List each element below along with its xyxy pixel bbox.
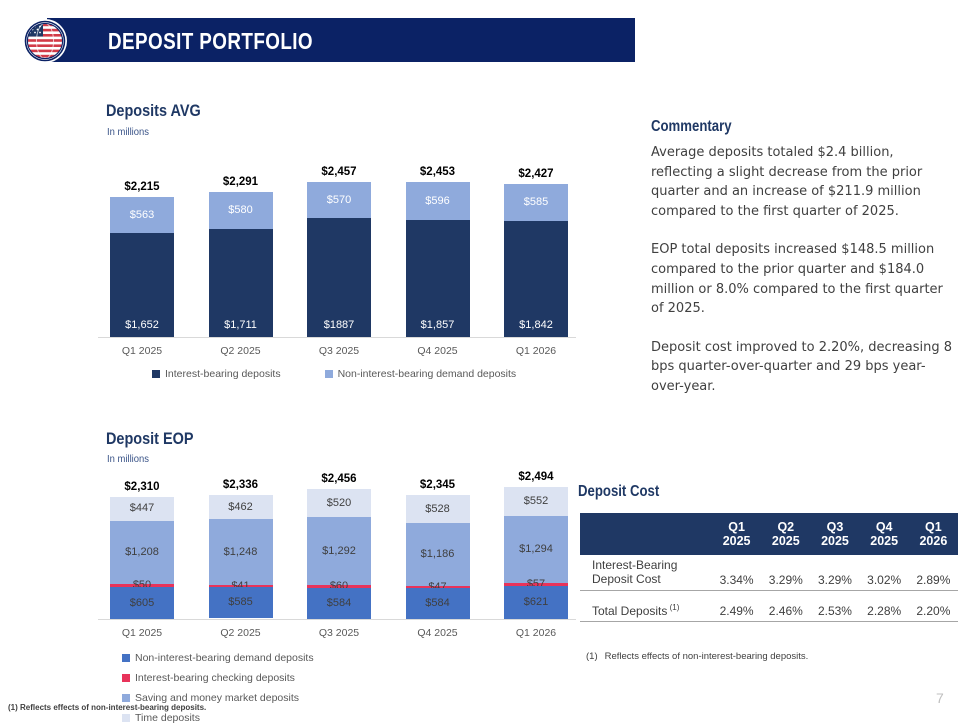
legend-swatch — [122, 714, 130, 722]
bar-segment: $570 — [307, 182, 371, 218]
commentary-paragraph: Average deposits totaled $2.4 billion, r… — [651, 143, 953, 221]
table-row: Total Deposits (1)2.49%2.46%2.53%2.28%2.… — [580, 600, 958, 622]
row-label-line2: Deposit Cost — [592, 572, 710, 586]
bar-segment-label: $1,652 — [125, 320, 159, 331]
column-header-quarter: Q1 — [714, 520, 759, 534]
bar-segment: $584 — [307, 588, 371, 619]
chart-subtitle-deposit-eop: In millions — [107, 453, 149, 465]
deposit-cost-title: Deposit Cost — [578, 483, 659, 501]
footnote-text: Reflects effects of non-interest-bearing… — [605, 651, 809, 662]
bar-segment: $585 — [504, 184, 568, 221]
bar-segment-label: $605 — [130, 598, 154, 609]
table-column-header: Q42025 — [860, 513, 909, 555]
bar-total-label: $2,453 — [406, 166, 470, 178]
bar-segment-label: $1,294 — [519, 544, 553, 555]
deposit-cost-footnote: (1)Reflects effects of non-interest-bear… — [586, 651, 808, 662]
bar-group: $580$1,711$2,291Q2 2025 — [209, 160, 273, 337]
legend-label: Non-interest-bearing demand deposits — [338, 368, 517, 380]
bar-segment: $585 — [209, 587, 273, 618]
stacked-bar: $563$1,652 — [110, 197, 174, 337]
table-cell-value: 2.49% — [712, 600, 761, 622]
table-cell-value: 2.53% — [810, 600, 859, 622]
bar-segment: $1,857 — [406, 220, 470, 337]
category-label: Q3 2025 — [307, 345, 371, 357]
commentary-title: Commentary — [651, 118, 732, 136]
column-header-year: 2026 — [911, 534, 956, 548]
chart-title-deposits-avg: Deposits AVG — [106, 101, 201, 121]
table-cell-value: 2.46% — [761, 600, 810, 622]
bar-segment-label: $585 — [524, 197, 548, 208]
legend-item: Interest-bearing checking deposits — [122, 672, 322, 684]
row-footnote-mark: (1) — [667, 603, 679, 612]
footnote-mark: (1) — [586, 651, 598, 662]
table-cell-value: 3.34% — [712, 555, 761, 590]
bar-group: $462$1,248$41$585$2,336Q2 2025 — [209, 473, 273, 619]
bar-segment: $580 — [209, 192, 273, 229]
column-header-year: 2025 — [763, 534, 808, 548]
category-label: Q1 2026 — [504, 345, 568, 357]
bar-segment: $1,842 — [504, 221, 568, 337]
bar-segment: $1,652 — [110, 233, 174, 337]
bar-segment: $520 — [307, 489, 371, 517]
stacked-bar: $552$1,294$57$621 — [504, 487, 568, 619]
bar-total-label: $2,456 — [307, 473, 371, 485]
bar-segment-label: $1887 — [324, 320, 355, 331]
column-header-quarter: Q1 — [911, 520, 956, 534]
bar-segment: $1887 — [307, 218, 371, 337]
bar-segment: $552 — [504, 487, 568, 516]
bar-segment-label: $1,292 — [322, 546, 356, 557]
table-cell-value: 3.29% — [761, 555, 810, 590]
bar-segment-label: $1,842 — [519, 320, 553, 331]
bar-total-label: $2,457 — [307, 166, 371, 178]
legend-swatch — [122, 654, 130, 662]
chart-deposit-eop: $447$1,208$50$605$2,310Q1 2025$462$1,248… — [104, 473, 570, 619]
bar-segment: $621 — [504, 586, 568, 619]
bar-group: $528$1,186$47$584$2,345Q4 2025 — [406, 473, 470, 619]
commentary-body: Average deposits totaled $2.4 billion, r… — [651, 143, 953, 416]
commentary-paragraph: Deposit cost improved to 2.20%, decreasi… — [651, 338, 953, 397]
bar-segment: $1,248 — [209, 519, 273, 585]
chart-legend-eop: Non-interest-bearing demand depositsInte… — [122, 652, 542, 724]
table-column-header: Q12025 — [712, 513, 761, 555]
page-title: DEPOSIT PORTFOLIO — [108, 28, 313, 55]
column-header-year: 2025 — [714, 534, 759, 548]
bar-segment: $563 — [110, 197, 174, 233]
bar-segment: $1,292 — [307, 517, 371, 585]
legend-label: Interest-bearing checking deposits — [135, 672, 295, 684]
legend-item: Non-interest-bearing demand deposits — [325, 368, 517, 380]
table-cell-value: 3.02% — [860, 555, 909, 590]
bar-segment-label: $621 — [524, 597, 548, 608]
bar-segment: $1,711 — [209, 229, 273, 337]
chart-axis-eop — [98, 619, 576, 620]
table-row: Interest-BearingDeposit Cost3.34%3.29%3.… — [580, 555, 958, 590]
bar-segment-label: $447 — [130, 503, 154, 514]
legend-swatch — [152, 370, 160, 378]
table-corner-cell — [580, 513, 712, 555]
bar-total-label: $2,336 — [209, 479, 273, 491]
stacked-bar: $520$1,292$60$584 — [307, 489, 371, 619]
table-row-label: Interest-BearingDeposit Cost — [580, 555, 712, 590]
bar-segment-label: $1,186 — [421, 549, 455, 560]
bar-total-label: $2,215 — [110, 181, 174, 193]
bar-segment-label: $528 — [425, 504, 449, 515]
bar-segment: $447 — [110, 497, 174, 521]
bar-segment: $584 — [406, 588, 470, 619]
bar-segment-label: $520 — [327, 498, 351, 509]
category-label: Q1 2026 — [504, 627, 568, 639]
table-cell-value: 2.20% — [909, 600, 958, 622]
bar-segment: $1,186 — [406, 523, 470, 586]
stacked-bar: $596$1,857 — [406, 182, 470, 337]
bar-total-label: $2,427 — [504, 168, 568, 180]
bar-segment-label: $570 — [327, 195, 351, 206]
category-label: Q3 2025 — [307, 627, 371, 639]
legend-item: Non-interest-bearing demand deposits — [122, 652, 340, 664]
bar-segment-label: $563 — [130, 210, 154, 221]
bar-group: $596$1,857$2,453Q4 2025 — [406, 160, 470, 337]
bar-segment-label: $584 — [327, 598, 351, 609]
bar-segment-label: $596 — [425, 196, 449, 207]
chart-deposits-avg: $563$1,652$2,215Q1 2025$580$1,711$2,291Q… — [104, 160, 570, 337]
chart-legend-avg: Interest-bearing depositsNon-interest-be… — [152, 368, 552, 380]
category-label: Q2 2025 — [209, 627, 273, 639]
stacked-bar: $570$1887 — [307, 182, 371, 337]
bar-segment-label: $1,208 — [125, 547, 159, 558]
table-spacer-cell — [580, 590, 958, 600]
legend-item: Time deposits — [122, 712, 322, 724]
commentary-paragraph: EOP total deposits increased $148.5 mill… — [651, 240, 953, 318]
table-header-row: Q12025Q22025Q32025Q42025Q12026 — [580, 513, 958, 555]
chart-title-deposit-eop: Deposit EOP — [106, 429, 194, 449]
bar-segment: $462 — [209, 495, 273, 519]
legend-swatch — [122, 694, 130, 702]
usa-flag-globe-icon — [14, 18, 76, 64]
bar-total-label: $2,291 — [209, 176, 273, 188]
bar-segment: $605 — [110, 587, 174, 619]
bar-segment-label: $552 — [524, 496, 548, 507]
bar-segment-label: $1,248 — [224, 547, 258, 558]
stacked-bar: $580$1,711 — [209, 192, 273, 337]
page-number: 7 — [936, 690, 944, 706]
bar-total-label: $2,494 — [504, 471, 568, 483]
legend-label: Non-interest-bearing demand deposits — [135, 652, 314, 664]
bar-group: $570$1887$2,457Q3 2025 — [307, 160, 371, 337]
table-column-header: Q22025 — [761, 513, 810, 555]
row-label-line2: Total Deposits (1) — [592, 603, 710, 618]
table-cell-value: 2.28% — [860, 600, 909, 622]
bar-segment-label: $585 — [228, 597, 252, 608]
row-label-line1: Interest-Bearing — [592, 558, 710, 572]
stacked-bar: $447$1,208$50$605 — [110, 497, 174, 619]
bar-segment-label: $1,857 — [421, 320, 455, 331]
stacked-bar: $528$1,186$47$584 — [406, 495, 470, 619]
bar-group: $520$1,292$60$584$2,456Q3 2025 — [307, 473, 371, 619]
category-label: Q2 2025 — [209, 345, 273, 357]
table-row-label: Total Deposits (1) — [580, 600, 712, 622]
deposit-cost-table: Q12025Q22025Q32025Q42025Q12026 Interest-… — [580, 513, 958, 622]
bar-segment: $528 — [406, 495, 470, 523]
column-header-year: 2025 — [812, 534, 857, 548]
column-header-quarter: Q4 — [862, 520, 907, 534]
bar-total-label: $2,310 — [110, 481, 174, 493]
legend-swatch — [122, 674, 130, 682]
legend-label: Time deposits — [135, 712, 200, 724]
category-label: Q4 2025 — [406, 345, 470, 357]
category-label: Q1 2025 — [110, 627, 174, 639]
bar-segment-label: $584 — [425, 598, 449, 609]
bar-segment: $596 — [406, 182, 470, 220]
bar-segment-label: $580 — [228, 205, 252, 216]
bar-group: $563$1,652$2,215Q1 2025 — [110, 160, 174, 337]
bar-segment: $1,294 — [504, 516, 568, 583]
category-label: Q4 2025 — [406, 627, 470, 639]
stacked-bar: $462$1,248$41$585 — [209, 495, 273, 619]
column-header-quarter: Q2 — [763, 520, 808, 534]
legend-swatch — [325, 370, 333, 378]
bar-group: $447$1,208$50$605$2,310Q1 2025 — [110, 473, 174, 619]
table-column-header: Q12026 — [909, 513, 958, 555]
column-header-year: 2025 — [862, 534, 907, 548]
chart-axis-avg — [98, 337, 576, 338]
stacked-bar: $585$1,842 — [504, 184, 568, 337]
column-header-quarter: Q3 — [812, 520, 857, 534]
bar-group: $585$1,842$2,427Q1 2026 — [504, 160, 568, 337]
bar-segment: $1,208 — [110, 521, 174, 584]
legend-item: Interest-bearing deposits — [152, 368, 281, 380]
slide-footnote: (1) Reflects effects of non-interest-bea… — [8, 703, 206, 712]
table-cell-value: 3.29% — [810, 555, 859, 590]
table-cell-value: 2.89% — [909, 555, 958, 590]
chart-subtitle-deposits-avg: In millions — [107, 126, 149, 138]
bar-group: $552$1,294$57$621$2,494Q1 2026 — [504, 473, 568, 619]
legend-label: Interest-bearing deposits — [165, 368, 281, 380]
bar-segment-label: $462 — [228, 502, 252, 513]
bar-segment-label: $1,711 — [224, 320, 257, 331]
category-label: Q1 2025 — [110, 345, 174, 357]
bar-total-label: $2,345 — [406, 479, 470, 491]
table-spacer-row — [580, 590, 958, 600]
table-column-header: Q32025 — [810, 513, 859, 555]
